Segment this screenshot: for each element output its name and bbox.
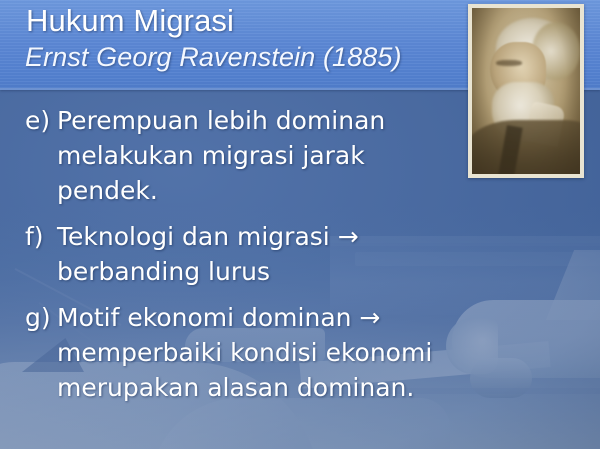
list-item-marker: g) (25, 300, 65, 335)
presentation-slide: Hukum Migrasi Ernst Georg Ravenstein (18… (0, 0, 600, 449)
list-item-text: Perempuan lebih dominan melakukan migras… (57, 103, 470, 208)
list-item: f) Teknologi dan migrasi → berbanding lu… (0, 219, 470, 289)
list-item-text: Teknologi dan migrasi → berbanding lurus (57, 219, 470, 289)
list-item: g) Motif ekonomi dominan → memperbaiki k… (0, 300, 470, 405)
list-item-text: Motif ekonomi dominan → memperbaiki kond… (57, 300, 470, 405)
portrait-photo (468, 4, 584, 178)
list-item: e) Perempuan lebih dominan melakukan mig… (0, 103, 470, 208)
slide-body-list: e) Perempuan lebih dominan melakukan mig… (0, 103, 470, 416)
portrait-image (472, 8, 580, 174)
page-subtitle: Ernst Georg Ravenstein (1885) (25, 42, 402, 73)
portrait-vignette (472, 8, 580, 174)
page-title: Hukum Migrasi (26, 3, 234, 39)
list-item-marker: f) (25, 219, 65, 254)
list-item-marker: e) (25, 103, 65, 138)
